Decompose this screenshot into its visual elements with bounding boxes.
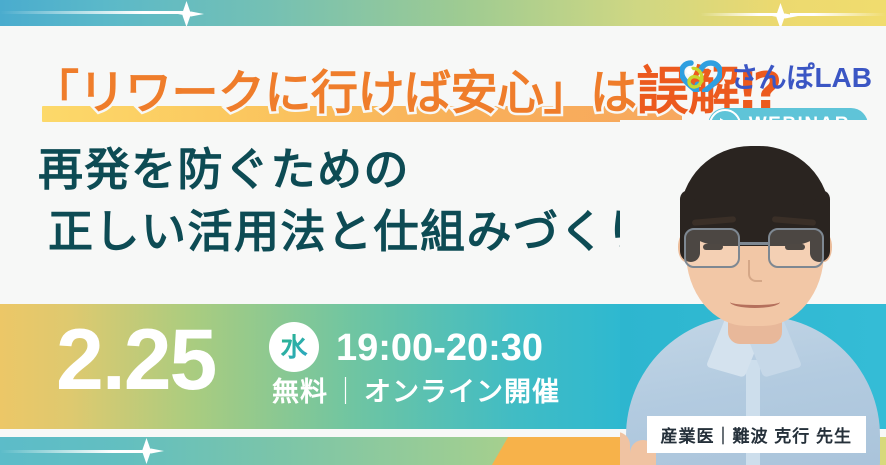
speaker-role: 産業医 [661, 427, 715, 446]
event-subline: 無料｜オンライン開催 [272, 374, 560, 410]
speaker-photo: 産業医｜難波 克行 先生 [620, 120, 886, 465]
speaker-divider: ｜ [715, 427, 733, 446]
subline-divider: ｜ [328, 377, 364, 407]
event-date: 2.25 [56, 312, 215, 408]
speaker-figure [620, 120, 886, 465]
day-of-week-badge: 水 [269, 322, 319, 372]
day-of-week-label: 水 [281, 334, 308, 361]
event-price: 無料 [272, 377, 328, 407]
event-format: オンライン開催 [364, 377, 560, 407]
mouth-shape [730, 296, 780, 308]
event-time: 19:00-20:30 [336, 326, 543, 370]
headline-line-1-main: 「リワークに行けば安心」は [32, 66, 637, 119]
sparkle-star-icon-3 [138, 438, 164, 464]
streak-line-right-2 [700, 13, 778, 16]
heart-loop-icon [680, 60, 722, 92]
speaker-honorific-text: 先生 [816, 427, 852, 446]
headline-line-1-wrap: 「リワークに行けば安心」は誤解⁉ [32, 62, 782, 124]
headline-line-3: 正しい活用法と仕組みづくり [48, 204, 653, 260]
streak-line-bottom [0, 450, 150, 453]
speaker-name-plate: 産業医｜難波 克行 先生 [647, 416, 866, 453]
streak-line-left [0, 11, 190, 14]
top-decorative-band [0, 0, 886, 26]
webinar-banner: 「リワークに行けば安心」は誤解⁉ 再発を防ぐための 正しい活用法と仕組みづくり … [0, 0, 886, 465]
sparkle-star-icon [178, 1, 204, 27]
brand-logo[interactable]: さんぽLAB [680, 56, 872, 96]
headline-line-2: 再発を防ぐための [38, 142, 410, 198]
headline-line-1: 「リワークに行けば安心」は誤解⁉ [32, 62, 782, 123]
nose-shape [748, 260, 762, 282]
brand-logo-text: さんぽLAB [730, 56, 872, 96]
speaker-name: 難波 克行 [733, 427, 811, 446]
streak-line-right [790, 13, 886, 16]
hair-fringe [692, 180, 818, 210]
